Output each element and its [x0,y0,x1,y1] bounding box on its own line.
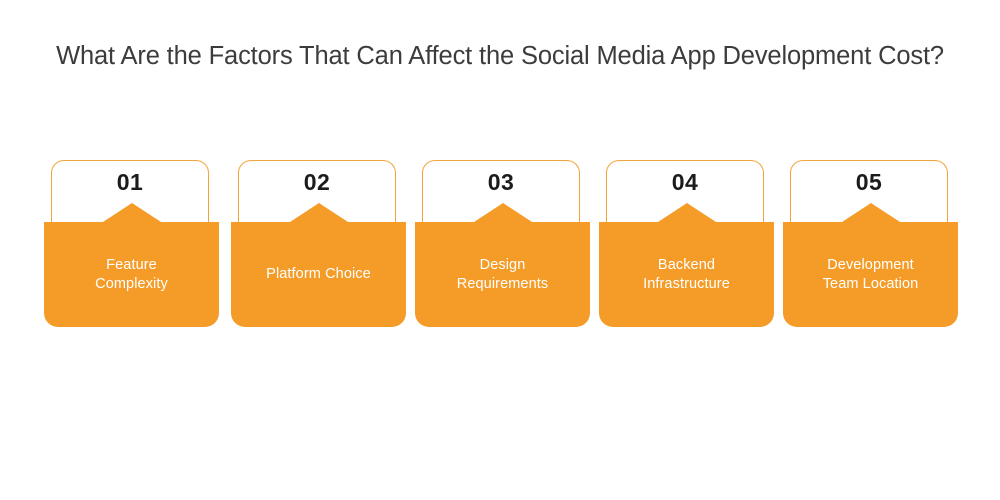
triangle-notch-icon-05 [842,203,900,222]
card-body-03: Design Requirements [415,222,590,327]
card-body-05: Development Team Location [783,222,958,327]
card-number-03: 03 [422,169,580,196]
factor-card-05[interactable]: 05 Development Team Location [783,160,958,327]
card-number-04: 04 [606,169,764,196]
card-body-04: Backend Infrastructure [599,222,774,327]
card-label-05: Development Team Location [791,222,950,327]
triangle-notch-icon-01 [103,203,161,222]
card-number-02: 02 [238,169,396,196]
page-title: What Are the Factors That Can Affect the… [0,42,1000,71]
factor-cards-row: 01 Feature Complexity 02 Platform Choice… [44,160,952,330]
factor-card-04[interactable]: 04 Backend Infrastructure [599,160,774,327]
triangle-notch-icon-02 [290,203,348,222]
factor-card-01[interactable]: 01 Feature Complexity [44,160,219,327]
card-label-02: Platform Choice [239,222,398,327]
card-label-03: Design Requirements [423,222,582,327]
triangle-notch-icon-03 [474,203,532,222]
card-label-01: Feature Complexity [52,222,211,327]
card-body-02: Platform Choice [231,222,406,327]
card-number-01: 01 [51,169,209,196]
factor-card-02[interactable]: 02 Platform Choice [231,160,406,327]
triangle-notch-icon-04 [658,203,716,222]
card-body-01: Feature Complexity [44,222,219,327]
infographic-container: What Are the Factors That Can Affect the… [0,0,1000,500]
card-number-05: 05 [790,169,948,196]
card-label-04: Backend Infrastructure [607,222,766,327]
factor-card-03[interactable]: 03 Design Requirements [415,160,590,327]
